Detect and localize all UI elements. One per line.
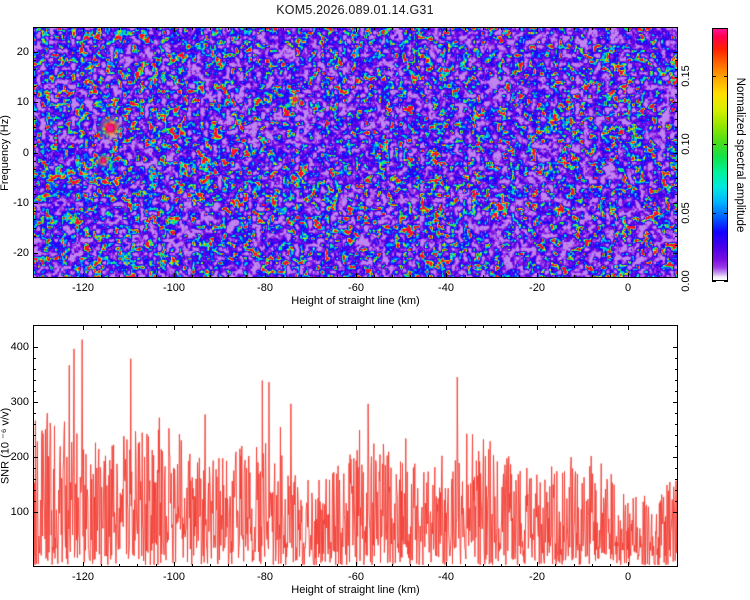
x-minor-tick [337,27,338,30]
x-minor-tick [283,564,284,567]
y-minor-tick [33,479,36,480]
x-minor-tick [483,564,484,567]
snr-y-axis-label: SNR (10 ⁻⁶ v/v) [0,408,12,484]
y-tick-label: 400 [0,341,29,353]
x-minor-tick [101,564,102,567]
y-minor-tick [675,144,678,145]
x-minor-tick [301,27,302,30]
x-minor-tick [228,564,229,567]
x-minor-tick [246,275,247,278]
x-minor-tick [610,27,611,30]
x-minor-tick [610,275,611,278]
y-major-tick [673,102,678,103]
x-tick-label: -80 [257,282,273,294]
x-minor-tick [392,27,393,30]
x-minor-tick [137,275,138,278]
y-minor-tick [33,468,36,469]
x-minor-tick [392,564,393,567]
x-minor-tick [156,325,157,328]
x-minor-tick [465,27,466,30]
y-minor-tick [33,86,36,87]
x-minor-tick [519,325,520,328]
x-tick-label: 0 [625,571,631,583]
x-major-tick [83,27,84,32]
x-minor-tick [465,275,466,278]
x-minor-tick [410,27,411,30]
x-minor-tick [374,275,375,278]
x-major-tick [265,27,266,32]
x-tick-label: -120 [72,571,94,583]
y-minor-tick [33,245,36,246]
x-major-tick [537,325,538,330]
y-tick-label: 10 [0,96,29,108]
y-minor-tick [675,119,678,120]
y-major-tick [33,52,38,53]
y-tick-label: -20 [0,247,29,259]
y-minor-tick [33,358,36,359]
y-minor-tick [675,228,678,229]
x-major-tick [174,27,175,32]
x-minor-tick [592,325,593,328]
y-minor-tick [675,369,678,370]
x-major-tick [537,273,538,278]
x-minor-tick [374,27,375,30]
x-minor-tick [428,275,429,278]
x-minor-tick [137,27,138,30]
y-major-tick [673,512,678,513]
y-major-tick [673,203,678,204]
x-tick-label: -20 [529,282,545,294]
x-minor-tick [428,564,429,567]
x-tick-label: -60 [348,282,364,294]
x-minor-tick [555,27,556,30]
x-minor-tick [337,325,338,328]
x-minor-tick [283,325,284,328]
x-minor-tick [156,275,157,278]
y-minor-tick [675,161,678,162]
y-minor-tick [675,391,678,392]
y-major-tick [673,253,678,254]
colorbar-tick [724,213,728,214]
x-minor-tick [519,564,520,567]
y-minor-tick [675,490,678,491]
colorbar-tick-label: 0.00 [680,270,692,291]
y-tick-label: 100 [0,506,29,518]
x-minor-tick [410,564,411,567]
x-minor-tick [519,27,520,30]
x-minor-tick [137,325,138,328]
x-minor-tick [501,27,502,30]
x-major-tick [356,562,357,567]
x-major-tick [174,325,175,330]
y-minor-tick [675,358,678,359]
y-minor-tick [33,144,36,145]
colorbar-tick [712,76,716,77]
y-minor-tick [675,424,678,425]
y-minor-tick [33,211,36,212]
x-minor-tick [119,325,120,328]
x-minor-tick [319,27,320,30]
x-tick-label: -80 [257,571,273,583]
x-minor-tick [555,325,556,328]
x-minor-tick [246,27,247,30]
figure-title: KOM5.2026.089.01.14.G31 [0,3,710,17]
x-minor-tick [319,564,320,567]
x-minor-tick [283,275,284,278]
spectrogram-y-axis-label: Frequency (Hz) [0,115,11,191]
x-minor-tick [246,325,247,328]
y-major-tick [673,52,678,53]
y-minor-tick [33,228,36,229]
x-minor-tick [210,325,211,328]
spectrogram-plot-area [33,27,678,278]
x-minor-tick [301,275,302,278]
y-minor-tick [33,169,36,170]
x-minor-tick [119,275,120,278]
x-major-tick [628,562,629,567]
y-minor-tick [33,391,36,392]
x-major-tick [265,273,266,278]
x-minor-tick [555,275,556,278]
x-minor-tick [374,564,375,567]
y-minor-tick [33,219,36,220]
colorbar-tick [724,281,728,282]
y-tick-label: 300 [0,396,29,408]
x-minor-tick [465,325,466,328]
y-major-tick [673,457,678,458]
y-major-tick [33,457,38,458]
x-major-tick [446,27,447,32]
y-minor-tick [33,446,36,447]
y-minor-tick [675,86,678,87]
x-major-tick [265,562,266,567]
x-minor-tick [592,27,593,30]
y-minor-tick [33,236,36,237]
y-major-tick [33,253,38,254]
y-minor-tick [675,77,678,78]
y-minor-tick [675,169,678,170]
x-minor-tick [428,325,429,328]
y-minor-tick [33,435,36,436]
x-major-tick [265,325,266,330]
y-minor-tick [33,77,36,78]
x-minor-tick [610,564,611,567]
x-minor-tick [228,325,229,328]
x-minor-tick [137,564,138,567]
x-minor-tick [192,27,193,30]
y-major-tick [33,402,38,403]
x-major-tick [537,27,538,32]
x-minor-tick [574,564,575,567]
y-minor-tick [33,161,36,162]
x-major-tick [628,325,629,330]
y-minor-tick [33,424,36,425]
y-minor-tick [675,245,678,246]
snr-plot-area [33,325,678,567]
y-minor-tick [675,127,678,128]
y-minor-tick [675,380,678,381]
y-minor-tick [675,178,678,179]
x-minor-tick [210,564,211,567]
x-minor-tick [374,325,375,328]
x-major-tick [537,562,538,567]
x-minor-tick [410,275,411,278]
x-minor-tick [192,325,193,328]
y-minor-tick [33,178,36,179]
colorbar-label: Normalized spectral amplitude [734,77,746,232]
x-minor-tick [574,325,575,328]
y-minor-tick [675,413,678,414]
spectrogram-x-axis-label: Height of straight line (km) [291,295,419,307]
x-minor-tick [519,275,520,278]
x-minor-tick [301,325,302,328]
x-minor-tick [428,27,429,30]
y-minor-tick [33,127,36,128]
x-major-tick [356,325,357,330]
x-major-tick [356,273,357,278]
x-minor-tick [192,275,193,278]
y-minor-tick [33,69,36,70]
x-minor-tick [156,564,157,567]
x-major-tick [628,27,629,32]
x-minor-tick [119,564,120,567]
x-minor-tick [501,275,502,278]
y-major-tick [33,102,38,103]
x-minor-tick [592,564,593,567]
x-tick-label: -40 [438,571,454,583]
x-major-tick [628,273,629,278]
x-tick-label: -100 [163,571,185,583]
x-minor-tick [101,325,102,328]
y-minor-tick [675,501,678,502]
x-minor-tick [301,564,302,567]
snr-x-axis-label: Height of straight line (km) [291,584,419,596]
y-minor-tick [33,380,36,381]
colorbar-tick-label: 0.15 [680,65,692,86]
x-minor-tick [392,325,393,328]
y-minor-tick [675,479,678,480]
y-minor-tick [33,94,36,95]
x-major-tick [446,562,447,567]
y-minor-tick [675,60,678,61]
y-minor-tick [33,501,36,502]
x-minor-tick [555,564,556,567]
x-minor-tick [574,27,575,30]
x-minor-tick [210,275,211,278]
y-minor-tick [675,111,678,112]
colorbar-tick [712,213,716,214]
colorbar-tick-label: 0.10 [680,133,692,154]
y-minor-tick [33,369,36,370]
colorbar-tick [712,144,716,145]
x-minor-tick [246,564,247,567]
x-minor-tick [101,275,102,278]
x-minor-tick [465,564,466,567]
colorbar-label-wrap: Normalized spectral amplitude [733,28,747,281]
y-minor-tick [33,119,36,120]
colorbar-tick [724,144,728,145]
y-major-tick [33,203,38,204]
x-major-tick [83,325,84,330]
x-major-tick [446,273,447,278]
x-minor-tick [392,275,393,278]
x-tick-label: -20 [529,571,545,583]
x-minor-tick [210,27,211,30]
x-minor-tick [610,325,611,328]
y-minor-tick [33,413,36,414]
y-minor-tick [675,446,678,447]
x-minor-tick [574,275,575,278]
y-minor-tick [675,94,678,95]
y-minor-tick [675,194,678,195]
x-major-tick [174,562,175,567]
x-minor-tick [337,564,338,567]
x-minor-tick [483,275,484,278]
x-minor-tick [156,27,157,30]
x-minor-tick [592,275,593,278]
y-major-tick [673,402,678,403]
colorbar-tick-label: 0.05 [680,202,692,223]
x-major-tick [446,325,447,330]
colorbar-tick [724,76,728,77]
y-minor-tick [675,69,678,70]
x-major-tick [83,562,84,567]
y-minor-tick [675,435,678,436]
y-major-tick [33,512,38,513]
x-minor-tick [337,275,338,278]
y-minor-tick [675,186,678,187]
y-major-tick [33,153,38,154]
x-minor-tick [228,275,229,278]
y-major-tick [673,347,678,348]
y-major-tick [673,153,678,154]
x-minor-tick [119,27,120,30]
x-minor-tick [228,27,229,30]
x-minor-tick [501,564,502,567]
x-major-tick [83,273,84,278]
y-minor-tick [675,211,678,212]
spectrogram-image [34,28,677,277]
x-minor-tick [483,325,484,328]
y-minor-tick [675,468,678,469]
x-tick-label: 0 [625,282,631,294]
x-minor-tick [319,325,320,328]
y-minor-tick [675,236,678,237]
x-minor-tick [283,27,284,30]
x-minor-tick [501,325,502,328]
y-minor-tick [33,186,36,187]
y-minor-tick [33,60,36,61]
x-major-tick [174,273,175,278]
x-minor-tick [319,275,320,278]
y-tick-label: -10 [0,197,29,209]
x-tick-label: -40 [438,282,454,294]
x-major-tick [356,27,357,32]
y-minor-tick [33,194,36,195]
x-tick-label: -100 [163,282,185,294]
figure-canvas: KOM5.2026.089.01.14.G31 -120-100-80-60-4… [0,0,750,600]
x-minor-tick [410,325,411,328]
colorbar-tick [712,281,716,282]
x-tick-label: -120 [72,282,94,294]
y-minor-tick [675,136,678,137]
x-minor-tick [192,564,193,567]
x-minor-tick [483,27,484,30]
y-minor-tick [33,490,36,491]
x-tick-label: -60 [348,571,364,583]
y-minor-tick [33,136,36,137]
x-minor-tick [101,27,102,30]
y-tick-label: 20 [0,46,29,58]
snr-line-trace [34,326,677,566]
colorbar [712,28,728,281]
y-major-tick [33,347,38,348]
y-minor-tick [33,111,36,112]
y-minor-tick [675,219,678,220]
